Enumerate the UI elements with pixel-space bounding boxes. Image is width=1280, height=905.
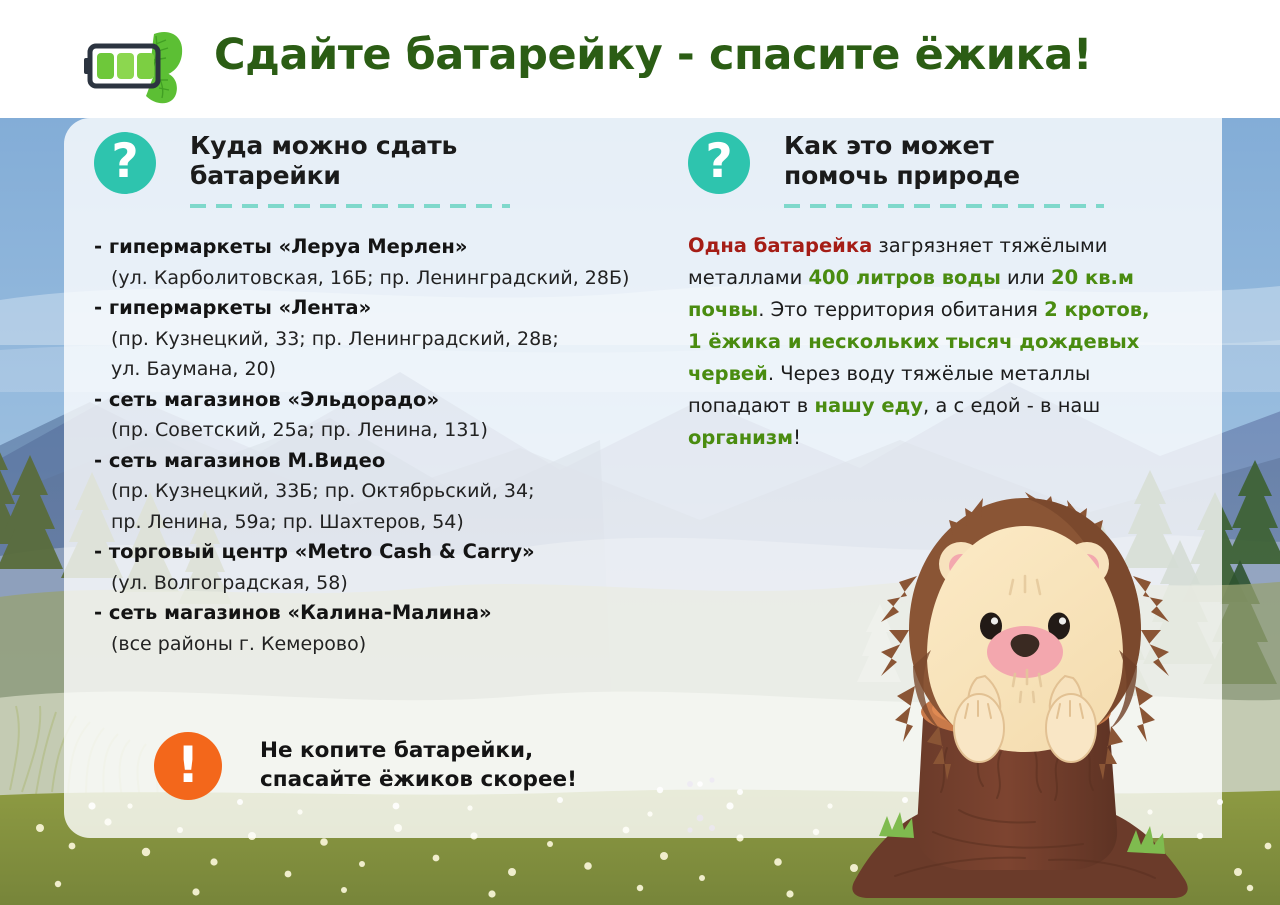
page-title: Сдайте батарейку - спасите ёжика! xyxy=(214,34,1224,77)
question-mark-glyph: ? xyxy=(94,132,156,194)
place-name: - торговый центр «Metro Cash & Carry» xyxy=(94,537,654,568)
highlight-red: Одна батарейка xyxy=(688,234,872,257)
paragraph-text: ! xyxy=(793,426,801,449)
right-section-title: Как это может помочь природе xyxy=(784,131,1020,191)
place-address: (пр. Советский, 25а; пр. Ленина, 131) xyxy=(94,415,654,446)
column-how-it-helps: ? Как это может помочь природе Одна бата… xyxy=(688,118,1188,218)
right-section-header: ? Как это может помочь природе xyxy=(688,118,1188,218)
highlight-green: 400 литров воды xyxy=(808,266,1000,289)
question-mark-icon: ? xyxy=(688,132,750,194)
hedgehog-illustration xyxy=(835,480,1215,905)
list-item: - сеть магазинов М.Видео (пр. Кузнецкий,… xyxy=(94,446,654,538)
column-where-to-recycle: ? Куда можно сдать батарейки - гипермарк… xyxy=(94,118,654,218)
left-section-title: Куда можно сдать батарейки xyxy=(190,131,457,191)
question-mark-icon: ? xyxy=(94,132,156,194)
poster-header: Сдайте батарейку - спасите ёжика! xyxy=(0,0,1280,118)
address-line: (ул. Волгоградская, 58) xyxy=(111,568,654,599)
nature-impact-paragraph: Одна батарейка загрязняет тяжёлыми метал… xyxy=(688,230,1166,454)
list-item: - торговый центр «Metro Cash & Carry» (у… xyxy=(94,537,654,598)
warning-banner: ! Не копите батарейки, спасайте ёжиков с… xyxy=(94,726,614,806)
list-item: - гипермаркеты «Леруа Мерлен» (ул. Карбо… xyxy=(94,232,654,293)
place-name: - сеть магазинов М.Видео xyxy=(94,446,654,477)
address-line: (пр. Кузнецкий, 33Б; пр. Октябрьский, 34… xyxy=(111,476,654,507)
place-name: - гипермаркеты «Лента» xyxy=(94,293,654,324)
right-section-divider xyxy=(784,204,1104,208)
warning-text: Не копите батарейки, спасайте ёжиков ско… xyxy=(260,737,577,794)
recycling-places-list: - гипермаркеты «Леруа Мерлен» (ул. Карбо… xyxy=(94,232,654,659)
paragraph-text: , а с едой - в наш xyxy=(923,394,1100,417)
place-address: (пр. Кузнецкий, 33Б; пр. Октябрьский, 34… xyxy=(94,476,654,537)
list-item: - сеть магазинов «Калина-Малина» (все ра… xyxy=(94,598,654,659)
address-line: (пр. Советский, 25а; пр. Ленина, 131) xyxy=(111,415,654,446)
address-line: (пр. Кузнецкий, 33; пр. Ленинградский, 2… xyxy=(111,324,654,355)
place-name: - сеть магазинов «Калина-Малина» xyxy=(94,598,654,629)
left-section-divider xyxy=(190,204,510,208)
place-address: (все районы г. Кемерово) xyxy=(94,629,654,660)
list-item: - гипермаркеты «Лента» (пр. Кузнецкий, 3… xyxy=(94,293,654,385)
address-line: (все районы г. Кемерово) xyxy=(111,629,654,660)
paragraph-text: или xyxy=(1001,266,1051,289)
address-line: пр. Ленина, 59а; пр. Шахтеров, 54) xyxy=(111,507,654,538)
place-name: - сеть магазинов «Эльдорадо» xyxy=(94,385,654,416)
exclamation-mark-icon: ! xyxy=(154,732,222,800)
place-name: - гипермаркеты «Леруа Мерлен» xyxy=(94,232,654,263)
infographic-poster: Сдайте батарейку - спасите ёжика! ? Куда… xyxy=(0,0,1280,905)
list-item: - сеть магазинов «Эльдорадо» (пр. Советс… xyxy=(94,385,654,446)
question-mark-glyph: ? xyxy=(688,132,750,194)
place-address: (ул. Карболитовская, 16Б; пр. Ленинградс… xyxy=(94,263,654,294)
battery-leaf-icon xyxy=(84,28,202,104)
left-section-header: ? Куда можно сдать батарейки xyxy=(94,118,654,218)
highlight-green: нашу еду xyxy=(814,394,923,417)
exclamation-mark-glyph: ! xyxy=(154,732,222,800)
paragraph-text: . Это территория обитания xyxy=(758,298,1044,321)
highlight-green: организм xyxy=(688,426,793,449)
address-line: (ул. Карболитовская, 16Б; пр. Ленинградс… xyxy=(111,263,654,294)
place-address: (пр. Кузнецкий, 33; пр. Ленинградский, 2… xyxy=(94,324,654,385)
address-line: ул. Баумана, 20) xyxy=(111,354,654,385)
place-address: (ул. Волгоградская, 58) xyxy=(94,568,654,599)
